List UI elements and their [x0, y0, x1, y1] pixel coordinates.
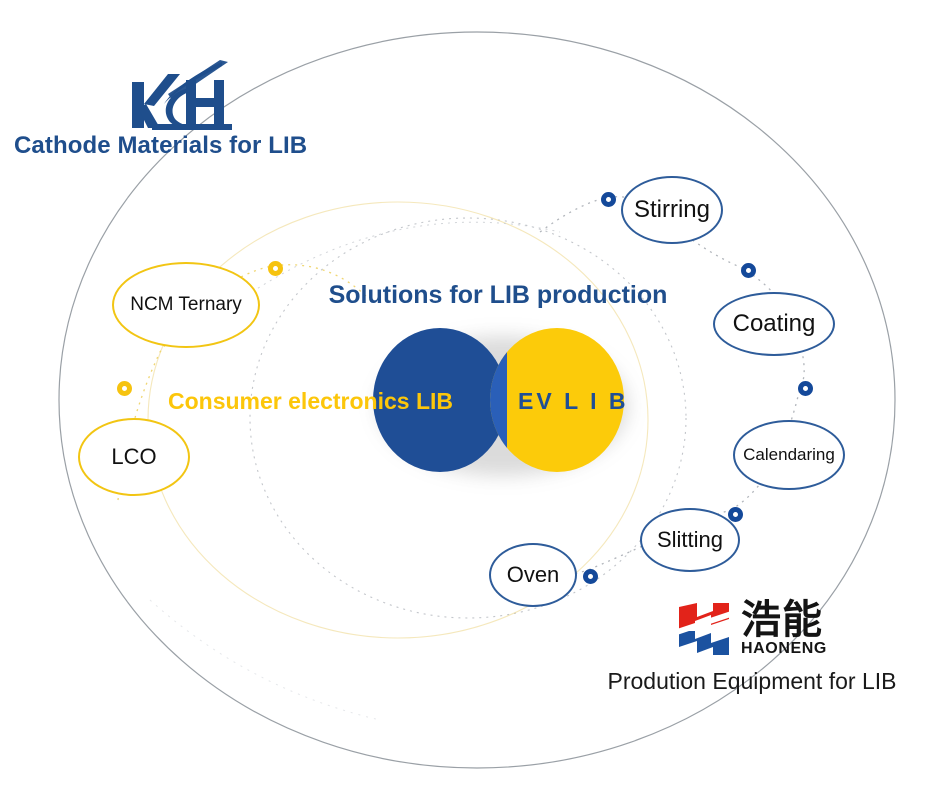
ring-ncm-icon [268, 261, 283, 276]
node-label-ncm-ternary: NCM Ternary [130, 295, 242, 315]
node-lco[interactable]: LCO [78, 418, 190, 496]
kh-logo [124, 58, 244, 136]
haoneng-wordmark: 浩能 HAONENG [741, 601, 827, 656]
ring-lco-icon [117, 381, 132, 396]
haoneng-logo-row: 浩能 HAONENG [572, 598, 932, 660]
node-label-slitting: Slitting [657, 528, 723, 551]
ring-stirring-icon [601, 192, 616, 207]
ring-slitting-icon [728, 507, 743, 522]
node-oven[interactable]: Oven [489, 543, 577, 607]
node-ncm-ternary[interactable]: NCM Ternary [112, 262, 260, 348]
consumer-lib-label: Consumer electronics LIB [168, 388, 453, 415]
ring-oven-icon [583, 569, 598, 584]
node-label-calendaring: Calendaring [743, 446, 835, 464]
ev-lib-label: EV L I B [518, 388, 629, 415]
cathode-brand-block: Cathode Materials for LIB [14, 58, 344, 160]
node-coating[interactable]: Coating [713, 292, 835, 356]
cathode-brand-label: Cathode Materials for LIB [14, 132, 344, 160]
node-stirring[interactable]: Stirring [621, 176, 723, 244]
equipment-brand-block: 浩能 HAONENG Prodution Equipment for LIB [572, 598, 932, 695]
node-label-stirring: Stirring [634, 197, 710, 222]
node-label-oven: Oven [507, 563, 560, 586]
haoneng-logo [677, 601, 731, 657]
diagram-canvas: Cathode Materials for LIB 浩能 HAONENG Pro… [0, 0, 948, 796]
node-label-lco: LCO [111, 445, 156, 468]
node-slitting[interactable]: Slitting [640, 508, 740, 572]
decorative-arc-bottom [150, 600, 380, 720]
haoneng-en-name: HAONENG [741, 641, 827, 657]
page-title: Solutions for LIB production [316, 281, 680, 310]
haoneng-cn-name: 浩能 [741, 601, 823, 639]
node-calendaring[interactable]: Calendaring [733, 420, 845, 490]
node-label-coating: Coating [733, 311, 816, 336]
ring-coating-icon [741, 263, 756, 278]
ring-calendaring-icon [798, 381, 813, 396]
equipment-brand-label: Prodution Equipment for LIB [572, 668, 932, 695]
